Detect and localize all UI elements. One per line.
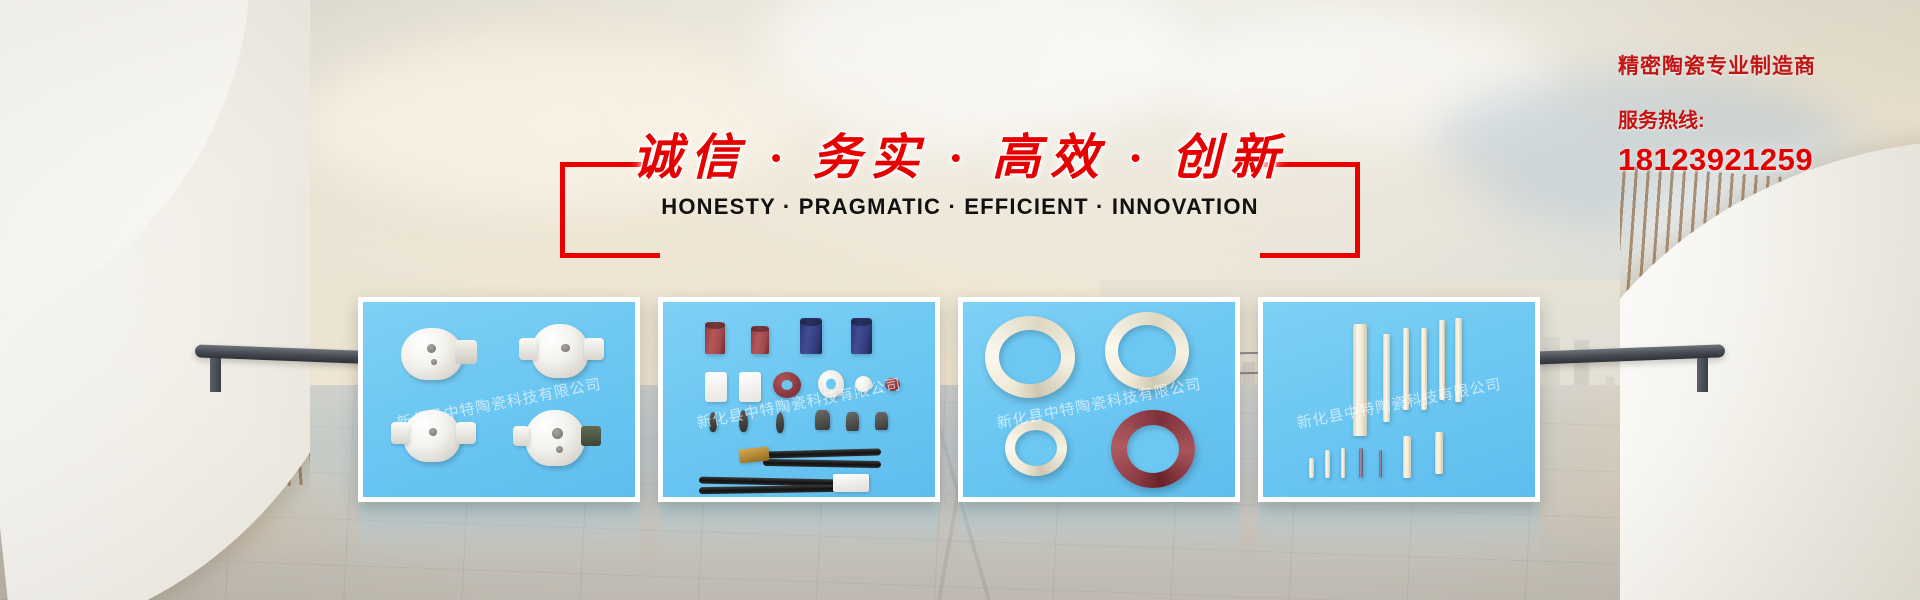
product-panel-ceramic-rods[interactable]: 新化县中特陶瓷科技有限公司 (1258, 297, 1540, 502)
slogan-chinese: 诚信 · 务实 · 高效 · 创新 (560, 128, 1360, 188)
panel-reflection (1258, 502, 1540, 576)
panel-reflection (958, 502, 1240, 576)
railing-post-left (210, 358, 221, 392)
product-panel-ceramic-tubes[interactable]: 新化县中特陶瓷科技有限公司 (658, 297, 940, 502)
hotline-label: 服务热线: (1618, 106, 1884, 136)
railing-post-right (1697, 358, 1708, 392)
product-panel-ceramic-rings[interactable]: 新化县中特陶瓷科技有限公司 (958, 297, 1240, 502)
hotline-number[interactable]: 18123921259 (1618, 140, 1884, 180)
hero-banner: 诚信 · 务实 · 高效 · 创新 HONESTY · PRAGMATIC · … (0, 0, 1920, 600)
product-gallery: 新化县中特陶瓷科技有限公司 (358, 297, 1564, 502)
slogan-block: 诚信 · 务实 · 高效 · 创新 HONESTY · PRAGMATIC · … (560, 128, 1360, 243)
product-panel-ceramic-lamp-holders[interactable]: 新化县中特陶瓷科技有限公司 (358, 297, 640, 502)
contact-block: 精密陶瓷专业制造商 服务热线: 18123921259 (1618, 52, 1884, 180)
panel-reflection (658, 502, 940, 576)
panel-reflection (358, 502, 640, 576)
architecture-left (0, 0, 310, 600)
company-tagline: 精密陶瓷专业制造商 (1618, 52, 1884, 82)
panel-watermark: 新化县中特陶瓷科技有限公司 (1295, 373, 1503, 433)
slogan-english: HONESTY · PRAGMATIC · EFFICIENT · INNOVA… (560, 194, 1360, 220)
